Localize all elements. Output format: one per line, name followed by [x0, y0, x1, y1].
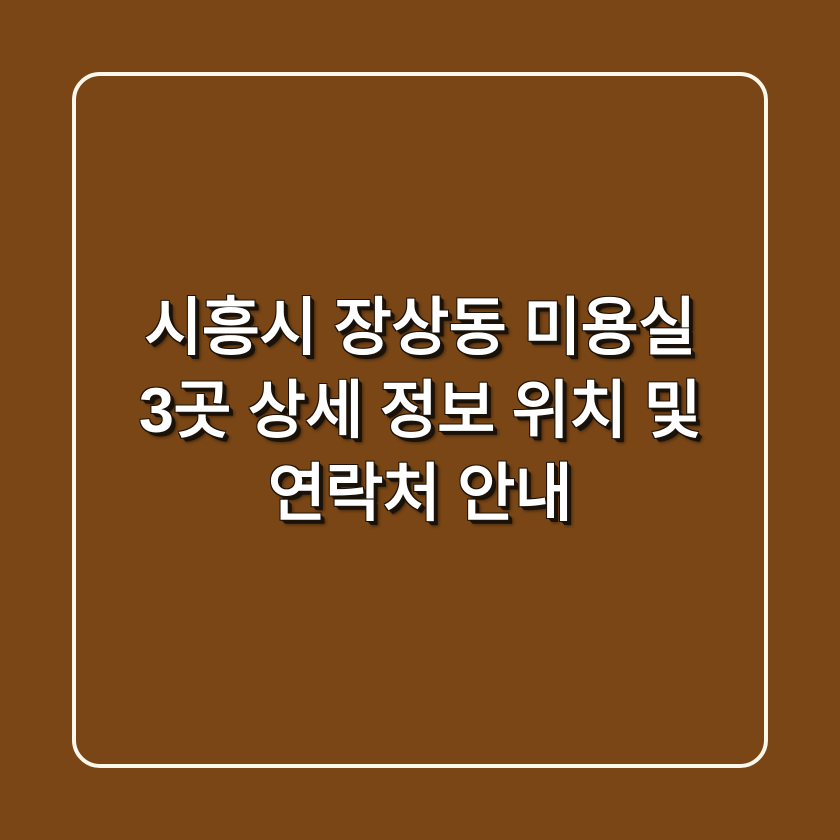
poster-canvas: 시흥시 장상동 미용실 3곳 상세 정보 위치 및 연락처 안내: [0, 0, 840, 840]
headline-line-2: 3곳 상세 정보 위치 및: [0, 370, 840, 453]
headline-line-3: 연락처 안내: [0, 453, 840, 536]
headline-block: 시흥시 장상동 미용실 3곳 상세 정보 위치 및 연락처 안내: [0, 0, 840, 840]
headline-line-1: 시흥시 장상동 미용실: [0, 287, 840, 370]
